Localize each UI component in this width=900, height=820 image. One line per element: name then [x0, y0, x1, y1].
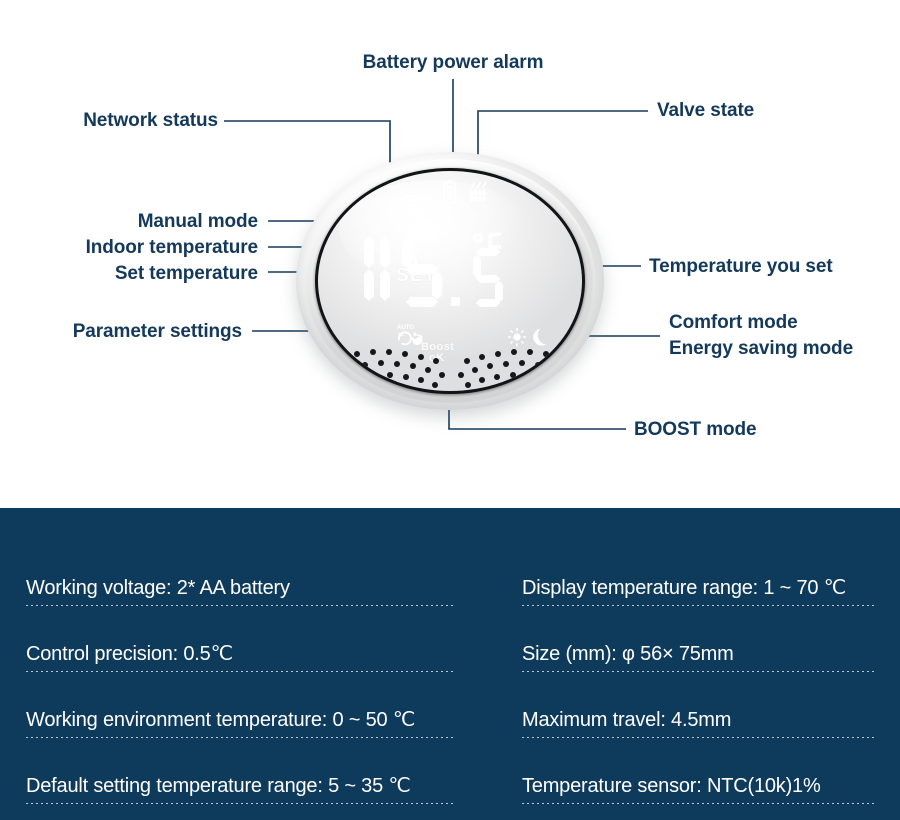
- callout-parameter-settings: Parameter settings: [0, 320, 242, 344]
- valve-radiator-icon: [466, 180, 492, 204]
- lcd-temperature-readout: [354, 233, 544, 313]
- battery-icon: [443, 180, 456, 204]
- callout-valve-state: Valve state: [657, 99, 754, 123]
- speaker-grille-right: [452, 349, 548, 391]
- svg-text:AUTO: AUTO: [397, 325, 414, 331]
- spec-divider: [522, 671, 876, 672]
- spec-text: Control precision: 0.5℃: [26, 641, 233, 666]
- callout-energy-saving-mode: Energy saving mode: [669, 337, 853, 361]
- spec-text: Display temperature range: 1 ~ 70 ℃: [522, 575, 846, 600]
- product-infographic: SET AUTO: [0, 0, 900, 820]
- callout-battery-power-alarm: Battery power alarm: [303, 51, 603, 75]
- spec-row: Working voltage: 2* AA battery: [26, 544, 462, 610]
- spec-row: Working environment temperature: 0 ~ 50 …: [26, 676, 462, 742]
- spec-row: Control precision: 0.5℃: [26, 610, 462, 676]
- wifi-icon: [401, 195, 423, 211]
- comfort-eco-mode-icon: [508, 327, 548, 347]
- sun-icon: [508, 328, 525, 345]
- device-lcd-face: SET AUTO: [318, 171, 582, 391]
- callout-set-temperature: Set temperature: [0, 262, 258, 286]
- callout-manual-mode: Manual mode: [0, 210, 258, 234]
- thermostat-device: SET AUTO: [296, 152, 604, 414]
- spec-row: Size (mm): φ 56× 75mm: [522, 610, 900, 676]
- callout-indoor-temperature: Indoor temperature: [0, 236, 258, 260]
- spec-row: Maximum travel: 4.5mm: [522, 676, 900, 742]
- callout-boost-mode: BOOST mode: [634, 418, 757, 442]
- spec-divider: [26, 737, 456, 738]
- speaker-grille-left: [352, 349, 448, 391]
- spec-text: Temperature sensor: NTC(10k)1%: [522, 775, 821, 798]
- celsius-unit: [475, 235, 501, 248]
- spec-divider: [522, 737, 876, 738]
- callout-network-status: Network status: [0, 109, 218, 133]
- callout-temperature-you-set: Temperature you set: [649, 255, 833, 279]
- spec-text: Default setting temperature range: 5 ~ 3…: [26, 773, 411, 798]
- spec-row: Temperature sensor: NTC(10k)1%: [522, 742, 900, 808]
- spec-column-left: Working voltage: 2* AA battery Control p…: [26, 508, 462, 820]
- callout-comfort-mode: Comfort mode: [669, 311, 798, 335]
- spec-text: Working environment temperature: 0 ~ 50 …: [26, 707, 415, 732]
- spec-text: Maximum travel: 4.5mm: [522, 709, 731, 732]
- spec-text: Size (mm): φ 56× 75mm: [522, 643, 734, 666]
- spec-row: Default setting temperature range: 5 ~ 3…: [26, 742, 462, 808]
- specifications-panel: Working voltage: 2* AA battery Control p…: [0, 508, 900, 820]
- spec-divider: [26, 803, 456, 804]
- spec-divider: [26, 605, 456, 606]
- spec-divider: [522, 605, 876, 606]
- spec-text: Working voltage: 2* AA battery: [26, 577, 290, 600]
- spec-divider: [522, 803, 876, 804]
- spec-divider: [26, 671, 456, 672]
- spec-column-right: Display temperature range: 1 ~ 70 ℃ Size…: [522, 508, 900, 820]
- diagram-panel: SET AUTO: [0, 0, 900, 508]
- spec-row: Display temperature range: 1 ~ 70 ℃: [522, 544, 900, 610]
- moon-icon: [533, 329, 546, 346]
